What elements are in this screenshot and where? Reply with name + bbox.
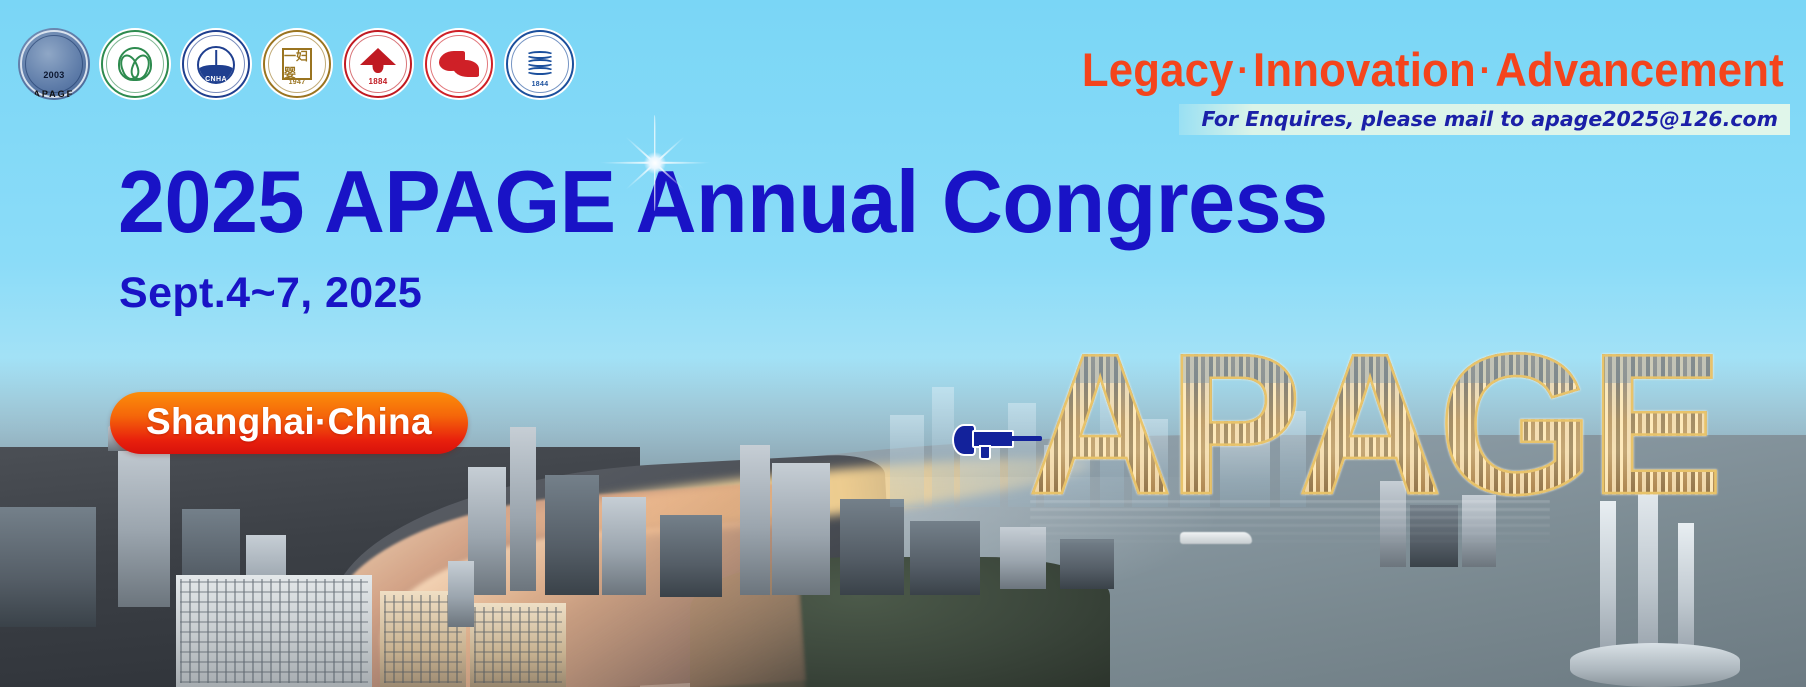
wave-icon bbox=[526, 49, 554, 79]
shanghai-medical-doctor-association-logo[interactable] bbox=[99, 28, 171, 100]
seal-icon: 一妇婴 bbox=[282, 48, 312, 80]
apage-wordmark: A P A G E bbox=[1028, 330, 1717, 520]
congress-slogan: Legacy·Innovation·Advancement bbox=[1082, 42, 1784, 97]
mother-and-baby-icon bbox=[373, 58, 384, 73]
congress-location: Shanghai·China bbox=[146, 401, 432, 442]
tower bbox=[0, 507, 96, 627]
page-title: 2025 APAGE Annual Congress bbox=[118, 158, 1328, 246]
tower bbox=[545, 475, 599, 595]
tower bbox=[740, 445, 770, 595]
slogan-word-legacy: Legacy bbox=[1082, 43, 1234, 96]
monument-base bbox=[1570, 643, 1740, 687]
clock-tower bbox=[448, 561, 474, 627]
waterfront-building bbox=[176, 575, 372, 687]
tower bbox=[118, 437, 170, 607]
slogan-separator: · bbox=[1234, 50, 1253, 92]
logo-year: 1844 bbox=[504, 81, 576, 88]
tower bbox=[840, 499, 904, 595]
cnha-logo[interactable]: CNHA bbox=[180, 28, 252, 100]
logo-year: 2003 bbox=[18, 70, 90, 80]
status-badge: Shanghai·China bbox=[110, 392, 468, 454]
maternal-and-child-health-hospital-logo[interactable] bbox=[423, 28, 495, 100]
caring-hands-icon bbox=[439, 51, 479, 77]
congress-dates: Sept.4~7, 2025 bbox=[119, 269, 422, 318]
tower bbox=[602, 497, 646, 595]
congress-banner: 2003 APAGE CNHA 一妇婴 1947 1884 bbox=[0, 0, 1806, 687]
renji-hospital-logo[interactable]: 1844 bbox=[504, 28, 576, 100]
slogan-separator: · bbox=[1476, 50, 1495, 92]
logo-acronym: CNHA bbox=[180, 76, 252, 83]
enquiry-email-strip[interactable]: For Enquires, please mail to apage2025@1… bbox=[1179, 104, 1790, 135]
scene-description: Shanghai Bund skyline at dusk with Huang… bbox=[0, 0, 1, 1]
apage-logo[interactable]: 2003 APAGE bbox=[18, 28, 90, 100]
logo-ring-inner bbox=[25, 35, 83, 93]
logo-acronym: APAGE bbox=[18, 89, 90, 99]
wordmark-letter-p: P bbox=[1168, 330, 1295, 520]
logo-year: 1947 bbox=[261, 79, 333, 86]
wordmark-letter-a1: A bbox=[1028, 330, 1166, 520]
tower bbox=[772, 463, 830, 595]
wordmark-letter-a2: A bbox=[1298, 330, 1436, 520]
wordmark-letter-g: G bbox=[1438, 330, 1588, 520]
organizer-logo-row: 2003 APAGE CNHA 一妇婴 1947 1884 bbox=[18, 28, 576, 100]
enquiry-text: For Enquires, please mail to apage2025@1… bbox=[1201, 107, 1778, 131]
magnolia-flower-icon bbox=[118, 47, 152, 81]
slogan-word-advancement: Advancement bbox=[1495, 43, 1784, 96]
tower bbox=[910, 521, 980, 595]
shanghai-first-maternity-and-infant-hospital-logo[interactable]: 一妇婴 1947 bbox=[261, 28, 333, 100]
endoscope-icon bbox=[952, 418, 1042, 460]
tower bbox=[510, 427, 536, 591]
waterfront-building bbox=[470, 603, 566, 687]
slogan-word-innovation: Innovation bbox=[1253, 43, 1476, 96]
obstetrics-gynecology-hospital-fudan-logo[interactable]: 1884 bbox=[342, 28, 414, 100]
wordmark-letter-e: E bbox=[1590, 330, 1717, 520]
logo-year: 1884 bbox=[342, 77, 414, 86]
tower bbox=[660, 515, 722, 597]
